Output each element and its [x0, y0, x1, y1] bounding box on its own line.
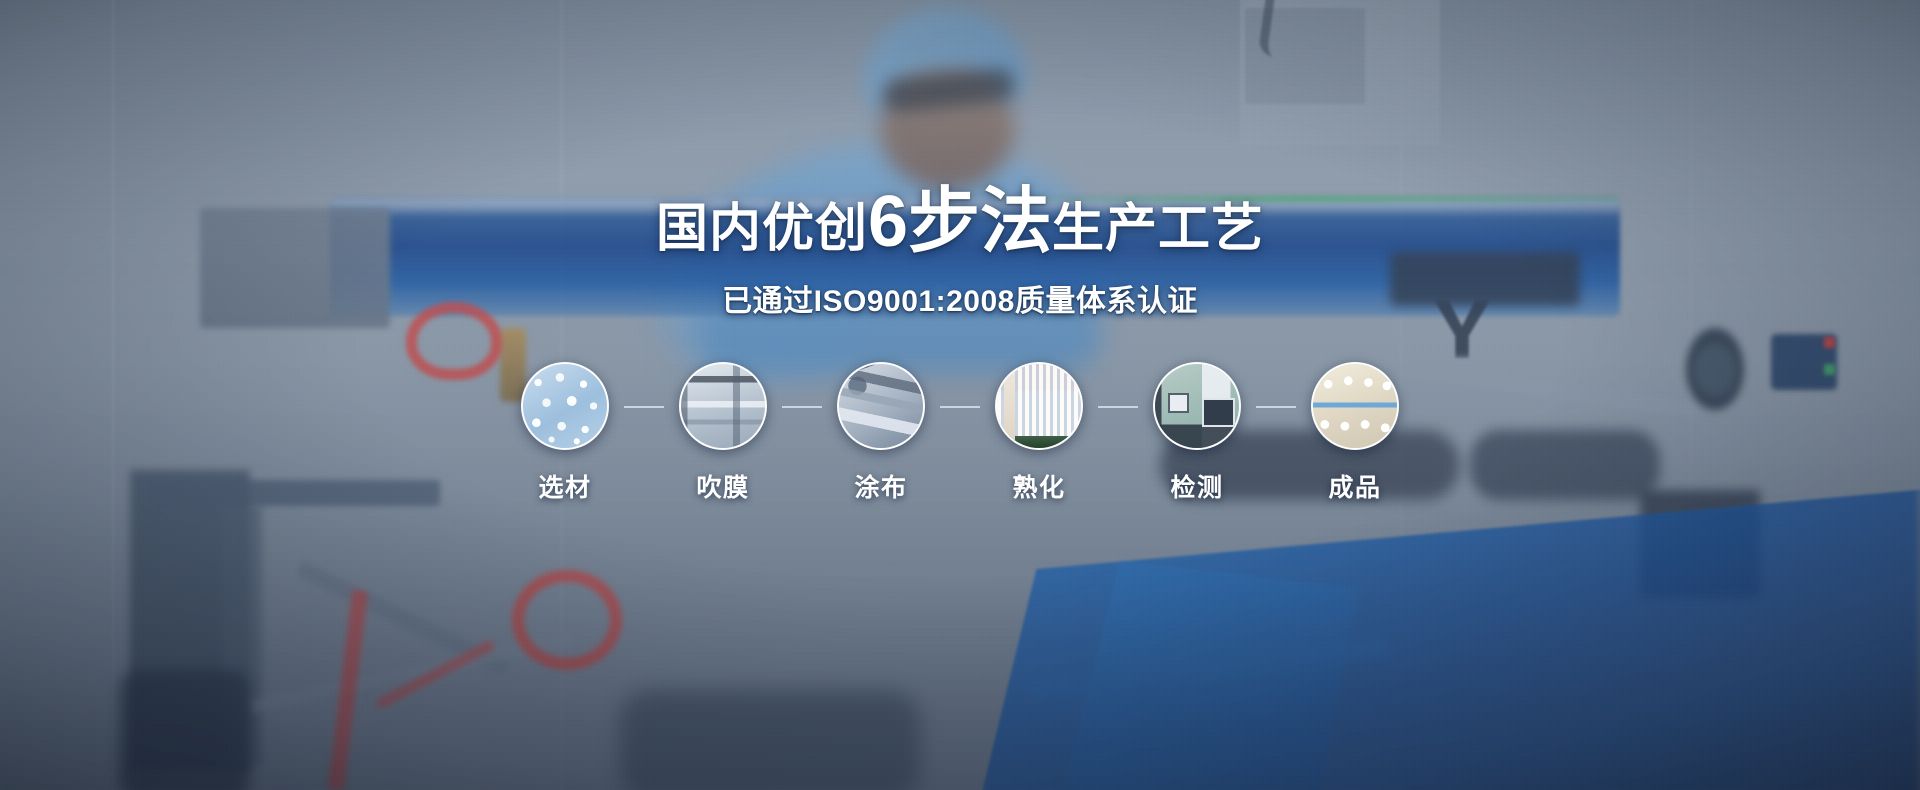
film-blowing-machine-icon	[681, 364, 765, 448]
headline-part-1: 国内优创	[656, 203, 868, 255]
step-image[interactable]	[1311, 362, 1399, 450]
headline-part-2: 生产工艺	[1052, 203, 1264, 255]
process-step[interactable]: 选材	[506, 362, 624, 504]
coating-machine-icon	[839, 364, 923, 448]
page-title: 国内优创 6步法 生产工艺	[656, 186, 1264, 258]
process-step[interactable]: 熟化	[980, 362, 1098, 504]
step-label: 成品	[1328, 468, 1381, 504]
production-process-banner: 国内优创 6步法 生产工艺 已通过ISO9001:2008质量体系认证 选材 吹…	[0, 0, 1920, 790]
process-step[interactable]: 检测	[1138, 362, 1256, 504]
step-image[interactable]	[995, 362, 1083, 450]
finished-film-rolls-icon	[1313, 364, 1397, 448]
headline-highlight: 6步法	[868, 186, 1052, 258]
step-image[interactable]	[1153, 362, 1241, 450]
step-connector	[782, 406, 822, 408]
certification-subtitle: 已通过ISO9001:2008质量体系认证	[722, 276, 1198, 320]
plastic-pellets-icon	[523, 364, 607, 448]
step-connector	[940, 406, 980, 408]
step-label: 吹膜	[696, 468, 749, 504]
step-image[interactable]	[837, 362, 925, 450]
process-step[interactable]: 吹膜	[664, 362, 782, 504]
process-step[interactable]: 成品	[1296, 362, 1414, 504]
process-step[interactable]: 涂布	[822, 362, 940, 504]
step-label: 涂布	[854, 468, 907, 504]
step-image[interactable]	[679, 362, 767, 450]
step-connector	[1098, 406, 1138, 408]
step-label: 选材	[538, 468, 591, 504]
testing-equipment-icon	[1155, 364, 1239, 448]
process-steps: 选材 吹膜 涂布 熟化	[506, 362, 1414, 504]
step-label: 检测	[1170, 468, 1223, 504]
step-connector	[1256, 406, 1296, 408]
step-connector	[624, 406, 664, 408]
step-image[interactable]	[521, 362, 609, 450]
step-label: 熟化	[1012, 468, 1065, 504]
curing-room-icon	[997, 364, 1081, 448]
banner-content: 国内优创 6步法 生产工艺 已通过ISO9001:2008质量体系认证 选材 吹…	[0, 0, 1920, 790]
